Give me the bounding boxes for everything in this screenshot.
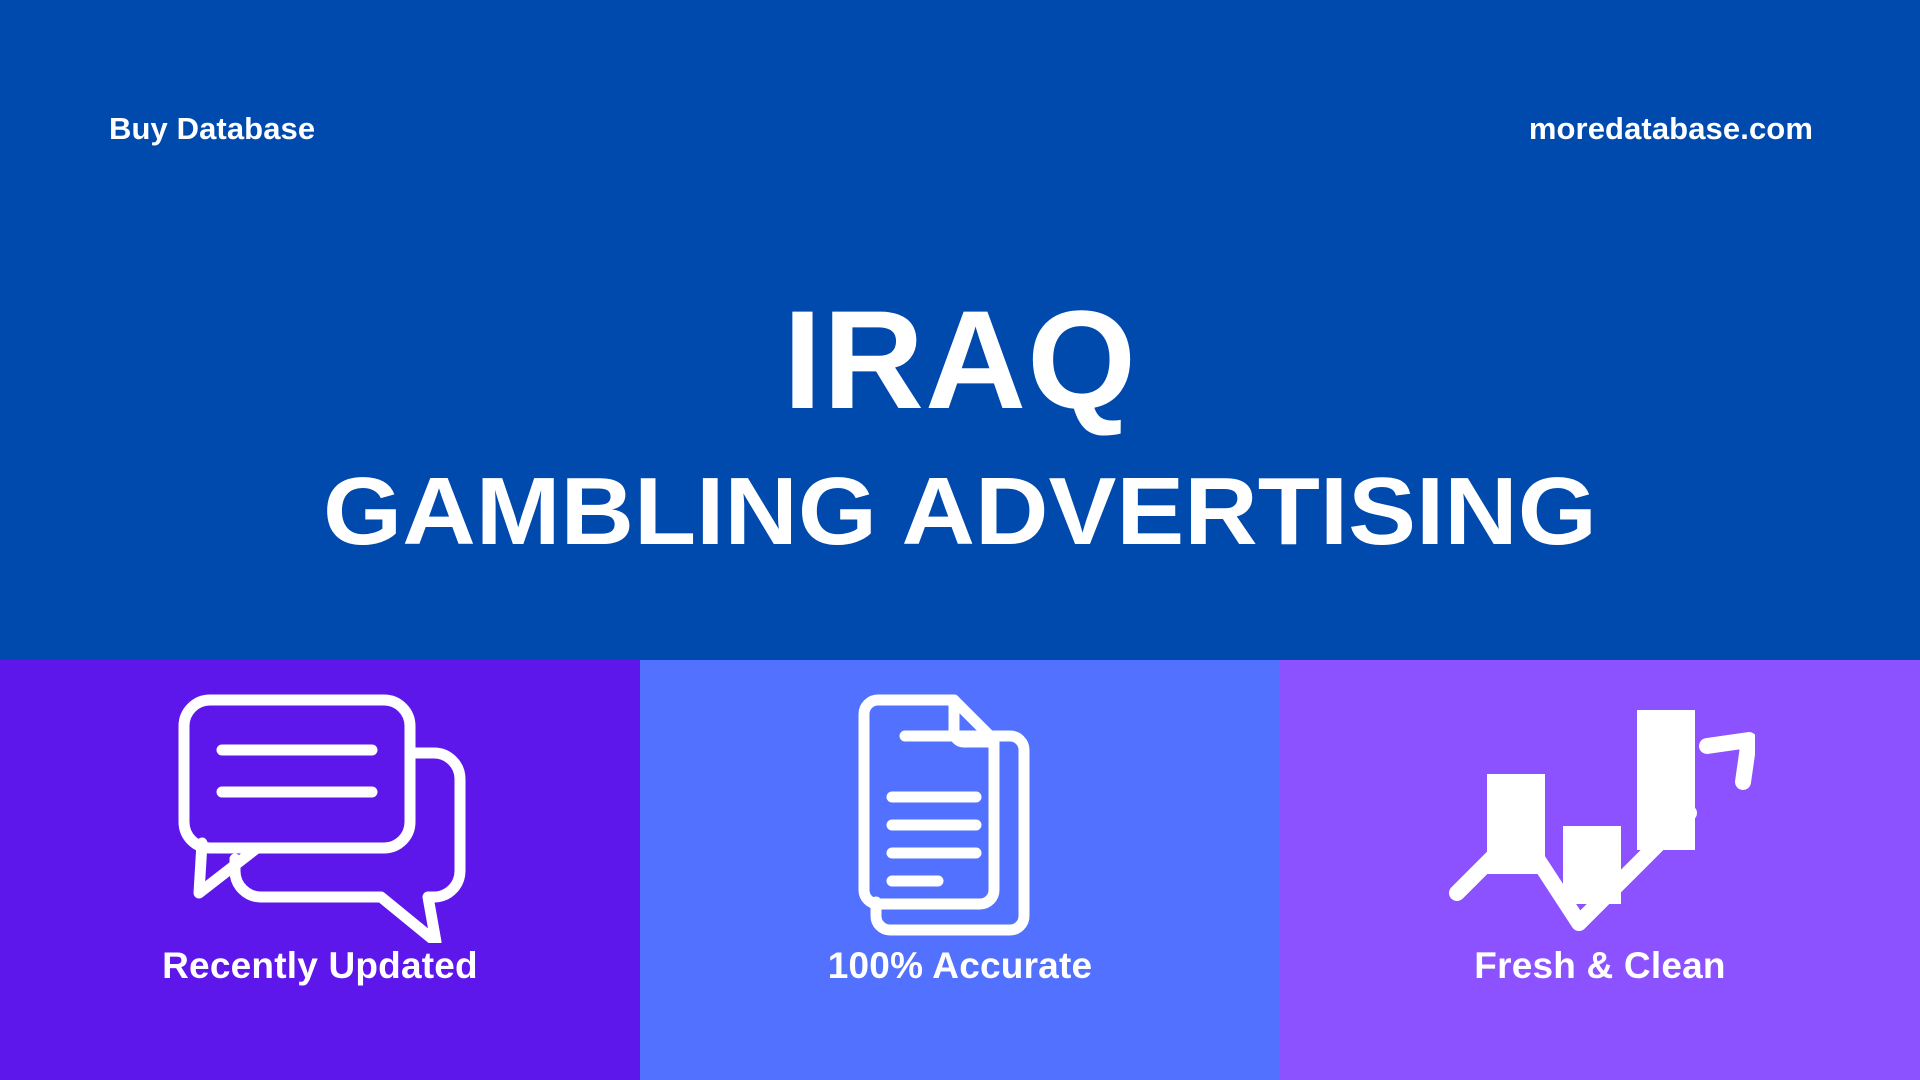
growth-bar-chart-icon bbox=[1445, 688, 1755, 943]
feature-label: Recently Updated bbox=[162, 945, 478, 987]
country-title: IRAQ bbox=[0, 290, 1920, 430]
banner-header: Buy Database moredatabase.com IRAQ GAMBL… bbox=[0, 0, 1920, 660]
document-pages-icon bbox=[850, 688, 1070, 943]
feature-panels: Recently Updated 100% Accurate bbox=[0, 660, 1920, 1080]
feature-label: Fresh & Clean bbox=[1474, 945, 1725, 987]
feature-label: 100% Accurate bbox=[828, 945, 1093, 987]
feature-panel-recently-updated: Recently Updated bbox=[0, 660, 640, 1080]
feature-panel-fresh-clean: Fresh & Clean bbox=[1280, 660, 1920, 1080]
brand-name: Buy Database bbox=[109, 111, 315, 147]
category-title: GAMBLING ADVERTISING bbox=[0, 464, 1920, 560]
promo-banner: Buy Database moredatabase.com IRAQ GAMBL… bbox=[0, 0, 1920, 1080]
title-block: IRAQ GAMBLING ADVERTISING bbox=[0, 290, 1920, 560]
chat-bubbles-icon bbox=[170, 688, 470, 943]
website-url: moredatabase.com bbox=[1529, 111, 1813, 147]
feature-panel-accurate: 100% Accurate bbox=[640, 660, 1280, 1080]
